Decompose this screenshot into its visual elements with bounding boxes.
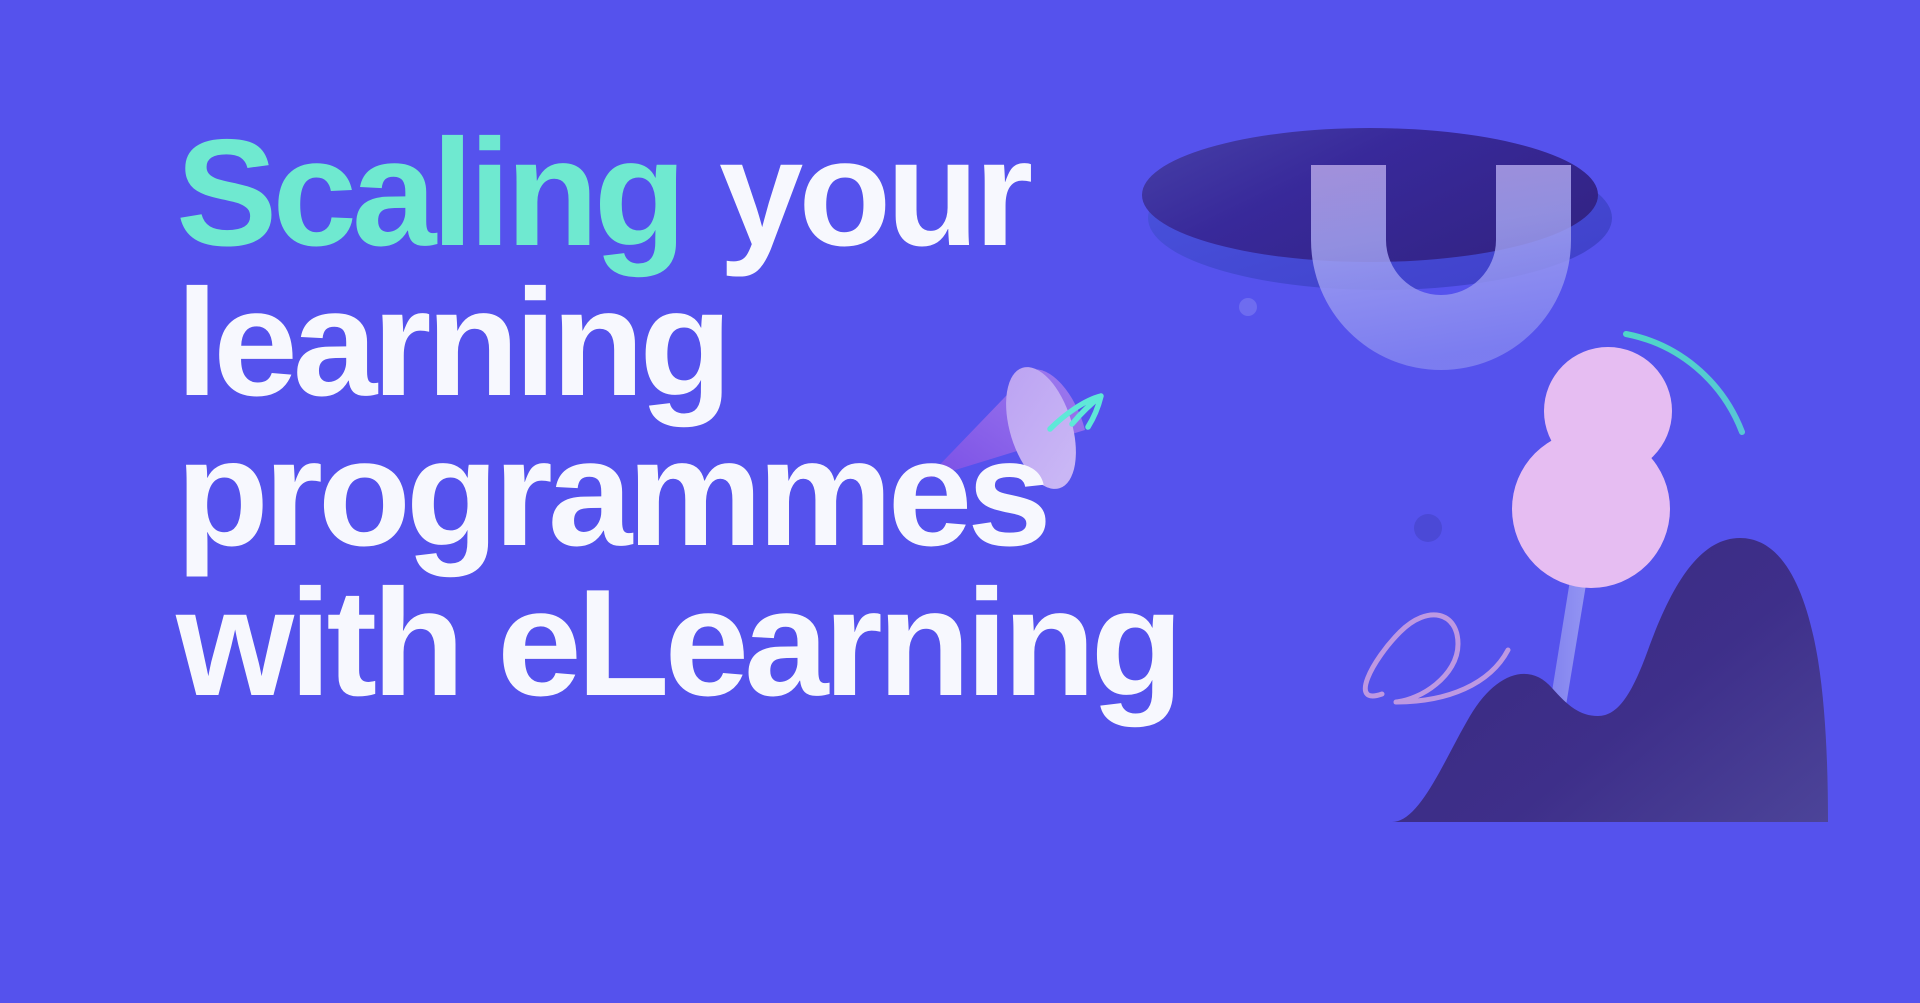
pink-loop-squiggle — [1365, 615, 1508, 702]
pink-balloon — [1512, 347, 1672, 588]
headline-line-3: programmes — [176, 418, 1236, 568]
headline-line-1-rest — [682, 108, 719, 278]
balloon-stem — [1538, 500, 1600, 778]
teal-thin-arc — [1626, 334, 1742, 432]
headline-accent-word: Scaling — [176, 108, 682, 278]
headline-line-1-word-2: your — [719, 108, 1028, 278]
page-title: Scaling your learning programmes with eL… — [176, 118, 1236, 718]
headline-line-4: with eLearning — [176, 568, 1236, 718]
balloon-upper-circle — [1544, 347, 1672, 475]
u-arc-shape — [1311, 165, 1571, 370]
hill-silhouette — [1392, 538, 1828, 822]
headline-line-2: learning — [176, 268, 1236, 418]
headline-line-1: Scaling your — [176, 118, 1236, 268]
balloon-lower-circle — [1512, 430, 1670, 588]
dark-dot — [1414, 514, 1442, 542]
light-dot — [1239, 298, 1257, 316]
banner-hero: Scaling your learning programmes with eL… — [0, 0, 1920, 1003]
